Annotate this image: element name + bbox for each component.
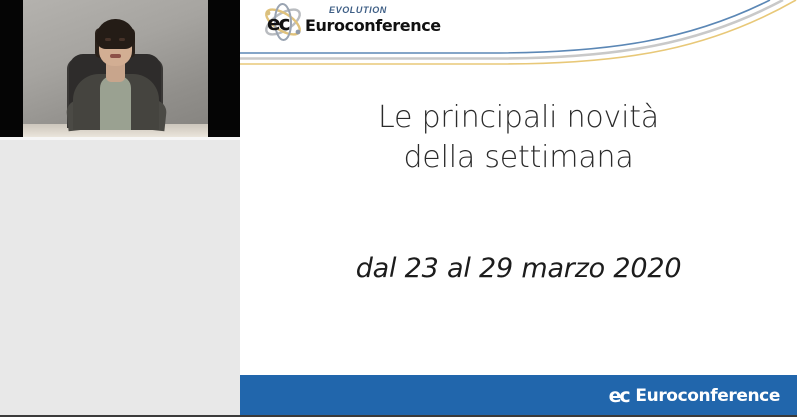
header-logo-mark: ec — [267, 13, 288, 33]
footer-logo: ec Euroconference — [609, 384, 780, 408]
letterbox-bar-right — [208, 0, 240, 137]
slide-subtitle-block: dal 23 al 29 marzo 2020 — [240, 253, 797, 284]
slide-title: Le principali novità della settimana — [240, 98, 797, 177]
presenter-eye-right — [119, 38, 125, 41]
slide-title-line-1: Le principali novità — [240, 98, 797, 138]
slide-footer-bar: ec Euroconference — [240, 375, 797, 417]
presenter-eye-left — [105, 38, 111, 41]
presenter-shirt — [100, 76, 131, 130]
slide-header: ec EVOLUTION Euroconference — [240, 0, 797, 72]
header-logo-tagline: EVOLUTION — [329, 5, 387, 15]
slide-canvas: ec EVOLUTION Euroconference Le principal… — [240, 0, 797, 417]
presenter-hair — [96, 19, 135, 49]
left-panel — [0, 0, 240, 417]
footer-logo-mark: ec — [609, 387, 629, 406]
letterbox-bar-left — [0, 0, 23, 137]
header-logo-name: Euroconference — [305, 16, 441, 35]
slide-date-range: dal 23 al 29 marzo 2020 — [356, 253, 682, 284]
slide-title-line-2: della settimana — [240, 138, 797, 178]
video-frame — [23, 0, 208, 137]
presenter-mouth — [110, 54, 121, 58]
footer-logo-name: Euroconference — [635, 388, 780, 405]
sidebar-empty-area — [0, 140, 240, 417]
presenter-video-tile[interactable] — [0, 0, 240, 137]
webinar-screen: ec EVOLUTION Euroconference Le principal… — [0, 0, 797, 417]
header-logo: ec EVOLUTION Euroconference — [261, 3, 431, 41]
